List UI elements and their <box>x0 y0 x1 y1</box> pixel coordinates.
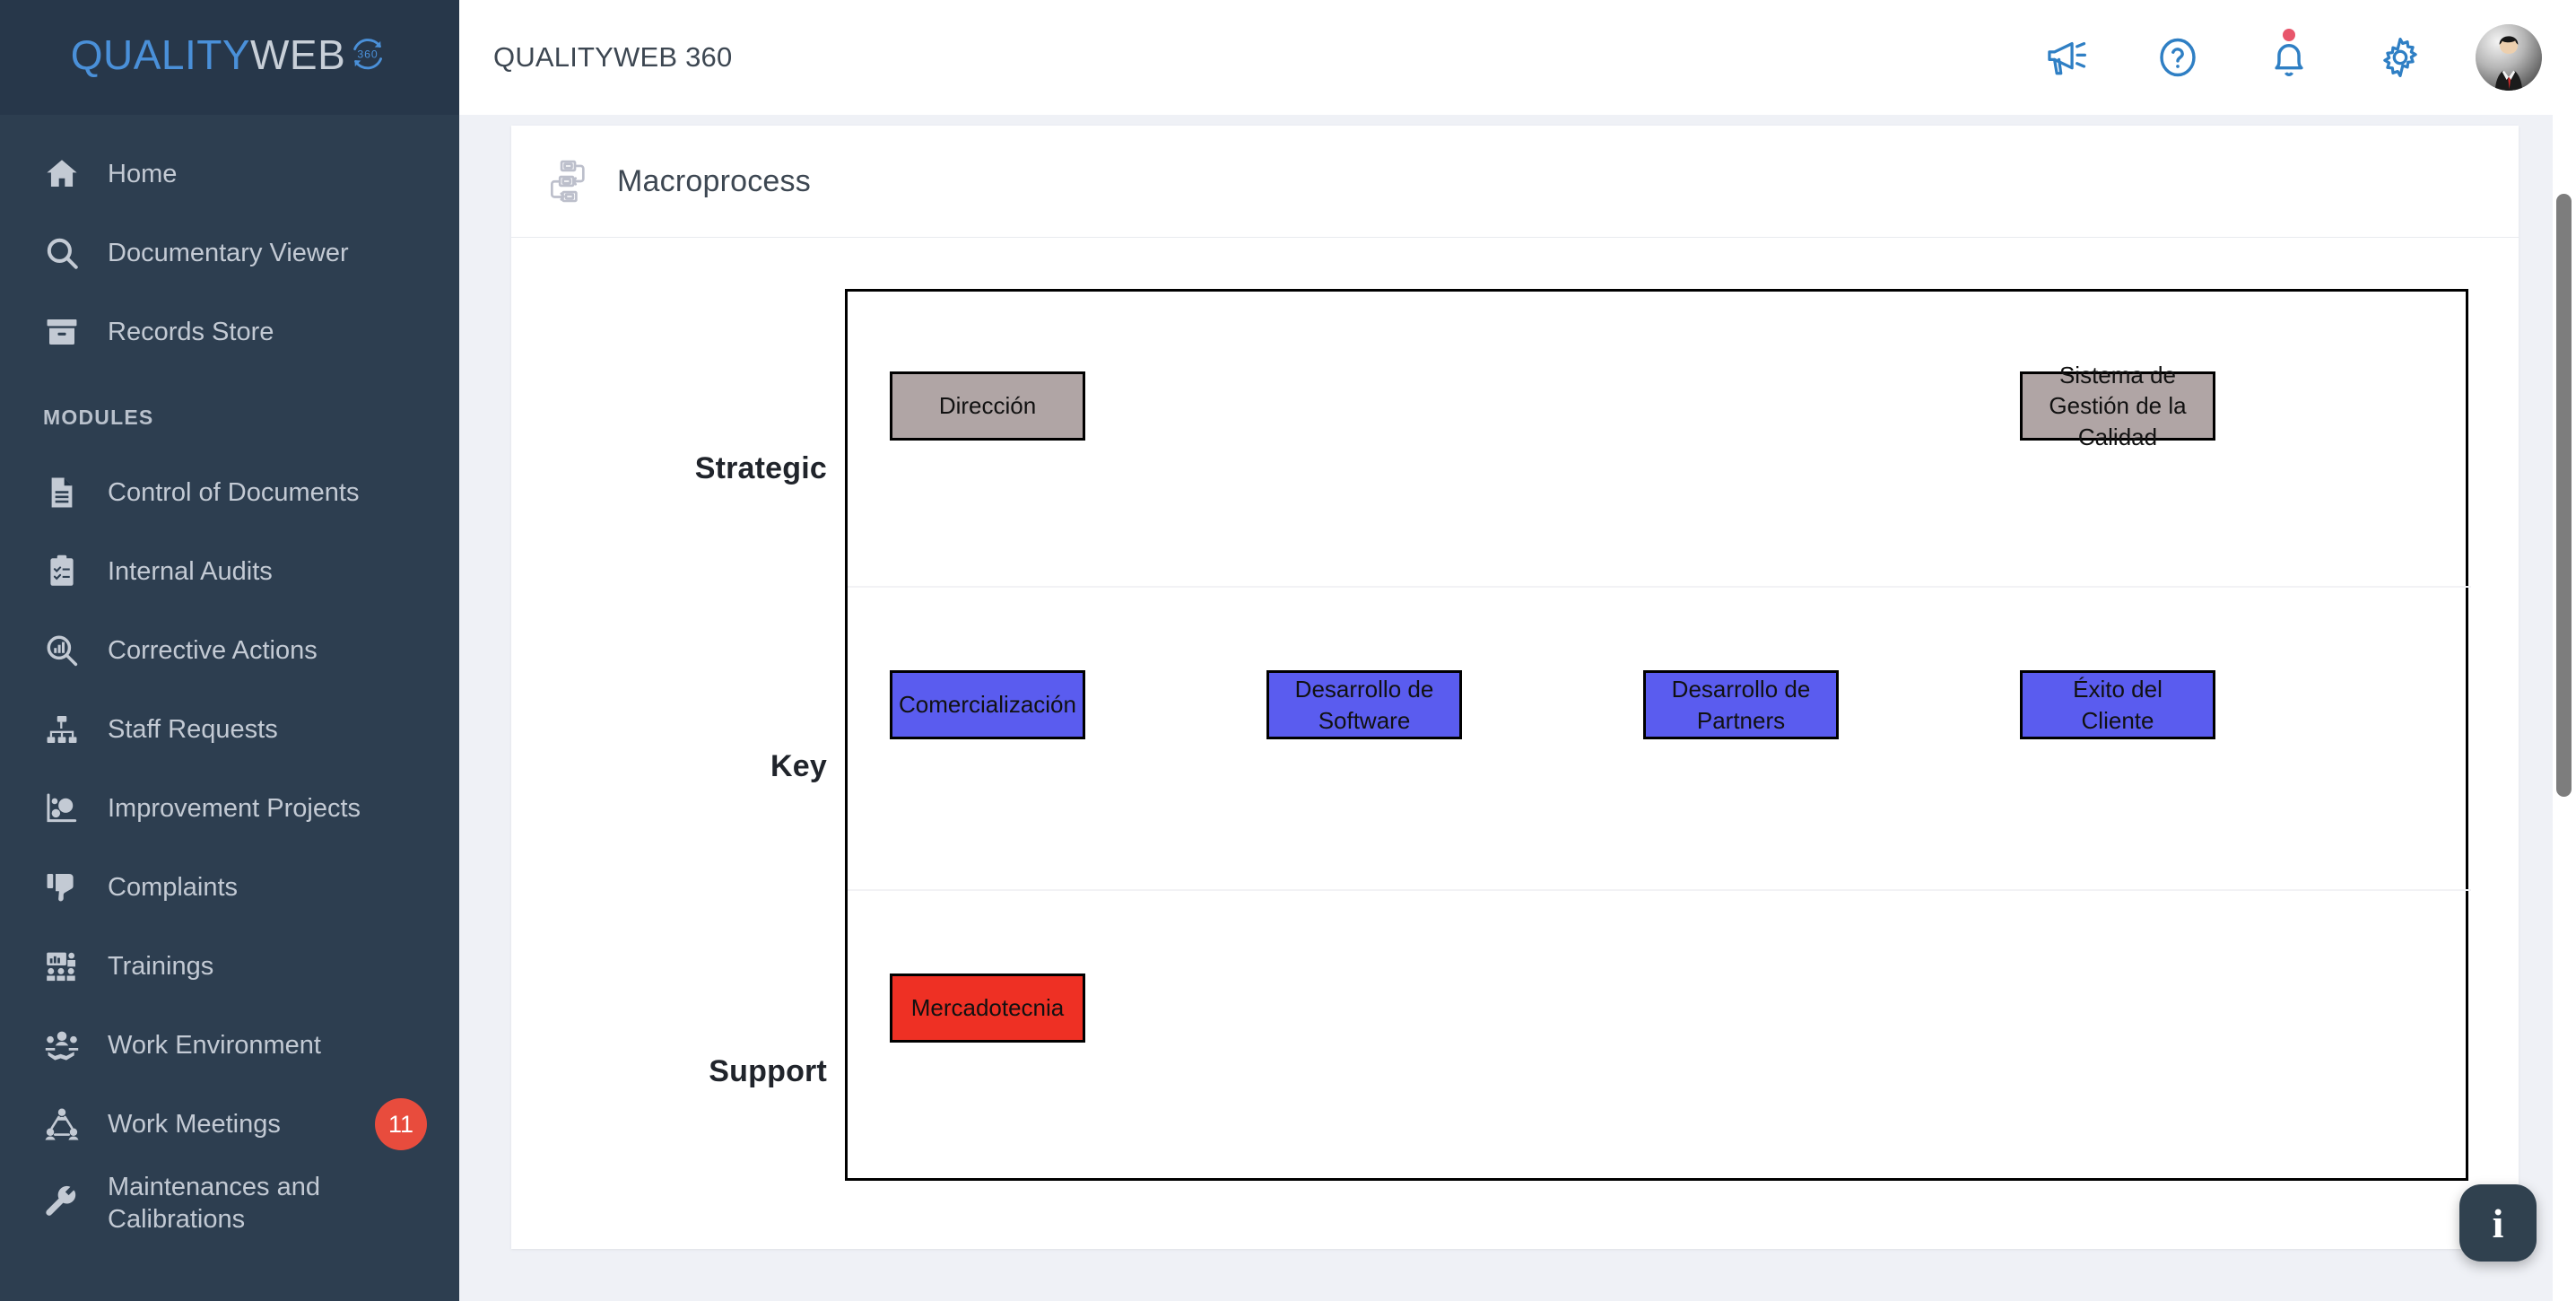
process-box-desarrollo-de-partners[interactable]: Desarrollo de Partners <box>1643 670 1839 739</box>
sidebar-item-staff-requests[interactable]: Staff Requests <box>0 690 459 769</box>
thumbs-down-icon <box>43 869 90 906</box>
macroprocess-diagram: Dirección Sistema de Gestión de la Calid… <box>845 289 2468 1181</box>
row-label-support: Support <box>538 1054 827 1089</box>
info-icon: i <box>2493 1200 2504 1247</box>
logo-primary: QUALITY <box>71 31 250 78</box>
content-area: Macroprocess Strategic Key Support Direc… <box>459 115 2576 1301</box>
page-title: Macroprocess <box>617 164 811 199</box>
topbar-actions <box>2011 0 2542 115</box>
process-box-direccion[interactable]: Dirección <box>890 371 1085 441</box>
sidebar-item-label: Home <box>108 158 177 190</box>
process-box-exito-del-cliente[interactable]: Éxito del Cliente <box>2020 670 2215 739</box>
meeting-people-icon <box>43 1105 90 1143</box>
sidebar-item-label: Records Store <box>108 316 274 348</box>
process-box-sistema-de-gestion-de-la-calidad[interactable]: Sistema de Gestión de la Calidad <box>2020 371 2215 441</box>
sidebar-item-badge: 11 <box>375 1098 427 1150</box>
sidebar-item-label: Trainings <box>108 950 213 982</box>
app-logo[interactable]: QUALITYWEB 360 <box>0 0 459 115</box>
sidebar-item-improvement-projects[interactable]: Improvement Projects <box>0 769 459 848</box>
card-header: Macroprocess <box>511 126 2519 238</box>
sidebar-item-label: Corrective Actions <box>108 634 318 667</box>
logo-360-icon: 360 <box>347 33 388 84</box>
sidebar-item-control-of-documents[interactable]: Control of Documents <box>0 453 459 532</box>
notification-dot <box>2283 29 2295 41</box>
sidebar-item-label: Staff Requests <box>108 713 278 746</box>
topbar: QUALITYWEB 360 <box>459 0 2576 115</box>
sidebar-item-maintenances-and-calibrations[interactable]: Maintenances and Calibrations <box>0 1164 459 1243</box>
search-icon <box>43 234 90 272</box>
org-chart-icon <box>43 711 90 748</box>
main-area: QUALITYWEB 360 <box>459 0 2576 1301</box>
user-avatar[interactable] <box>2476 24 2542 91</box>
diagram-row-key: Comercialización Desarrollo de Software … <box>848 588 2471 891</box>
process-box-desarrollo-de-software[interactable]: Desarrollo de Software <box>1266 670 1462 739</box>
sidebar-item-label: Control of Documents <box>108 476 359 509</box>
sidebar-item-label: Complaints <box>108 871 238 904</box>
bubble-chart-icon <box>43 790 90 827</box>
sidebar-item-internal-audits[interactable]: Internal Audits <box>0 532 459 611</box>
sidebar-nav: Home Documentary Viewer Records Store <box>0 115 459 1243</box>
training-presentation-icon <box>43 947 90 985</box>
row-label-key: Key <box>538 749 827 784</box>
gear-icon[interactable] <box>2345 0 2456 115</box>
sidebar-item-corrective-actions[interactable]: Corrective Actions <box>0 611 459 690</box>
sidebar-item-label: Work Environment <box>108 1029 321 1061</box>
clipboard-check-icon <box>43 553 90 590</box>
sidebar-item-trainings[interactable]: Trainings <box>0 927 459 1006</box>
sidebar-section-modules: MODULES <box>0 406 459 430</box>
document-icon <box>43 474 90 511</box>
megaphone-icon[interactable] <box>2011 0 2122 115</box>
row-label-strategic: Strategic <box>538 451 827 486</box>
macroprocess-card: Macroprocess Strategic Key Support Direc… <box>511 126 2519 1249</box>
svg-text:360: 360 <box>358 48 379 60</box>
sidebar-item-label: Documentary Viewer <box>108 237 349 269</box>
home-icon <box>43 155 90 193</box>
logo-secondary: WEB <box>250 31 345 78</box>
process-box-comercializacion[interactable]: Comercialización <box>890 670 1085 739</box>
diagram-row-support: Mercadotecnia <box>848 891 2471 1178</box>
diagram-wrapper: Strategic Key Support Dirección Sistema … <box>538 238 2492 1249</box>
help-circle-icon[interactable] <box>2122 0 2233 115</box>
sidebar-item-label: Work Meetings <box>108 1108 281 1140</box>
sidebar-item-complaints[interactable]: Complaints <box>0 848 459 927</box>
archive-box-icon <box>43 313 90 351</box>
chart-search-icon <box>43 632 90 669</box>
sidebar-item-label: Maintenances and Calibrations <box>108 1171 320 1236</box>
vertical-scrollbar-track[interactable] <box>2553 115 2576 1301</box>
diagram-row-strategic: Dirección Sistema de Gestión de la Calid… <box>848 292 2471 588</box>
sidebar-item-home[interactable]: Home <box>0 135 459 214</box>
macroprocess-flow-icon <box>544 156 594 206</box>
sidebar-item-work-meetings[interactable]: Work Meetings 11 <box>0 1085 459 1164</box>
sidebar-item-records-store[interactable]: Records Store <box>0 293 459 371</box>
wrench-icon <box>43 1184 90 1222</box>
sidebar: QUALITYWEB 360 Home <box>0 0 459 1301</box>
sidebar-item-documentary-viewer[interactable]: Documentary Viewer <box>0 214 459 293</box>
sidebar-item-label: Internal Audits <box>108 555 273 588</box>
info-fab-button[interactable]: i <box>2459 1184 2537 1262</box>
logo-text: QUALITYWEB 360 <box>71 31 389 83</box>
vertical-scrollbar-thumb[interactable] <box>2556 194 2572 797</box>
sidebar-item-work-environment[interactable]: Work Environment <box>0 1006 459 1085</box>
process-box-mercadotecnia[interactable]: Mercadotecnia <box>890 974 1085 1043</box>
sidebar-item-label: Improvement Projects <box>108 792 361 825</box>
topbar-title: QUALITYWEB 360 <box>493 41 732 74</box>
bell-icon[interactable] <box>2233 0 2345 115</box>
handshake-people-icon <box>43 1026 90 1064</box>
